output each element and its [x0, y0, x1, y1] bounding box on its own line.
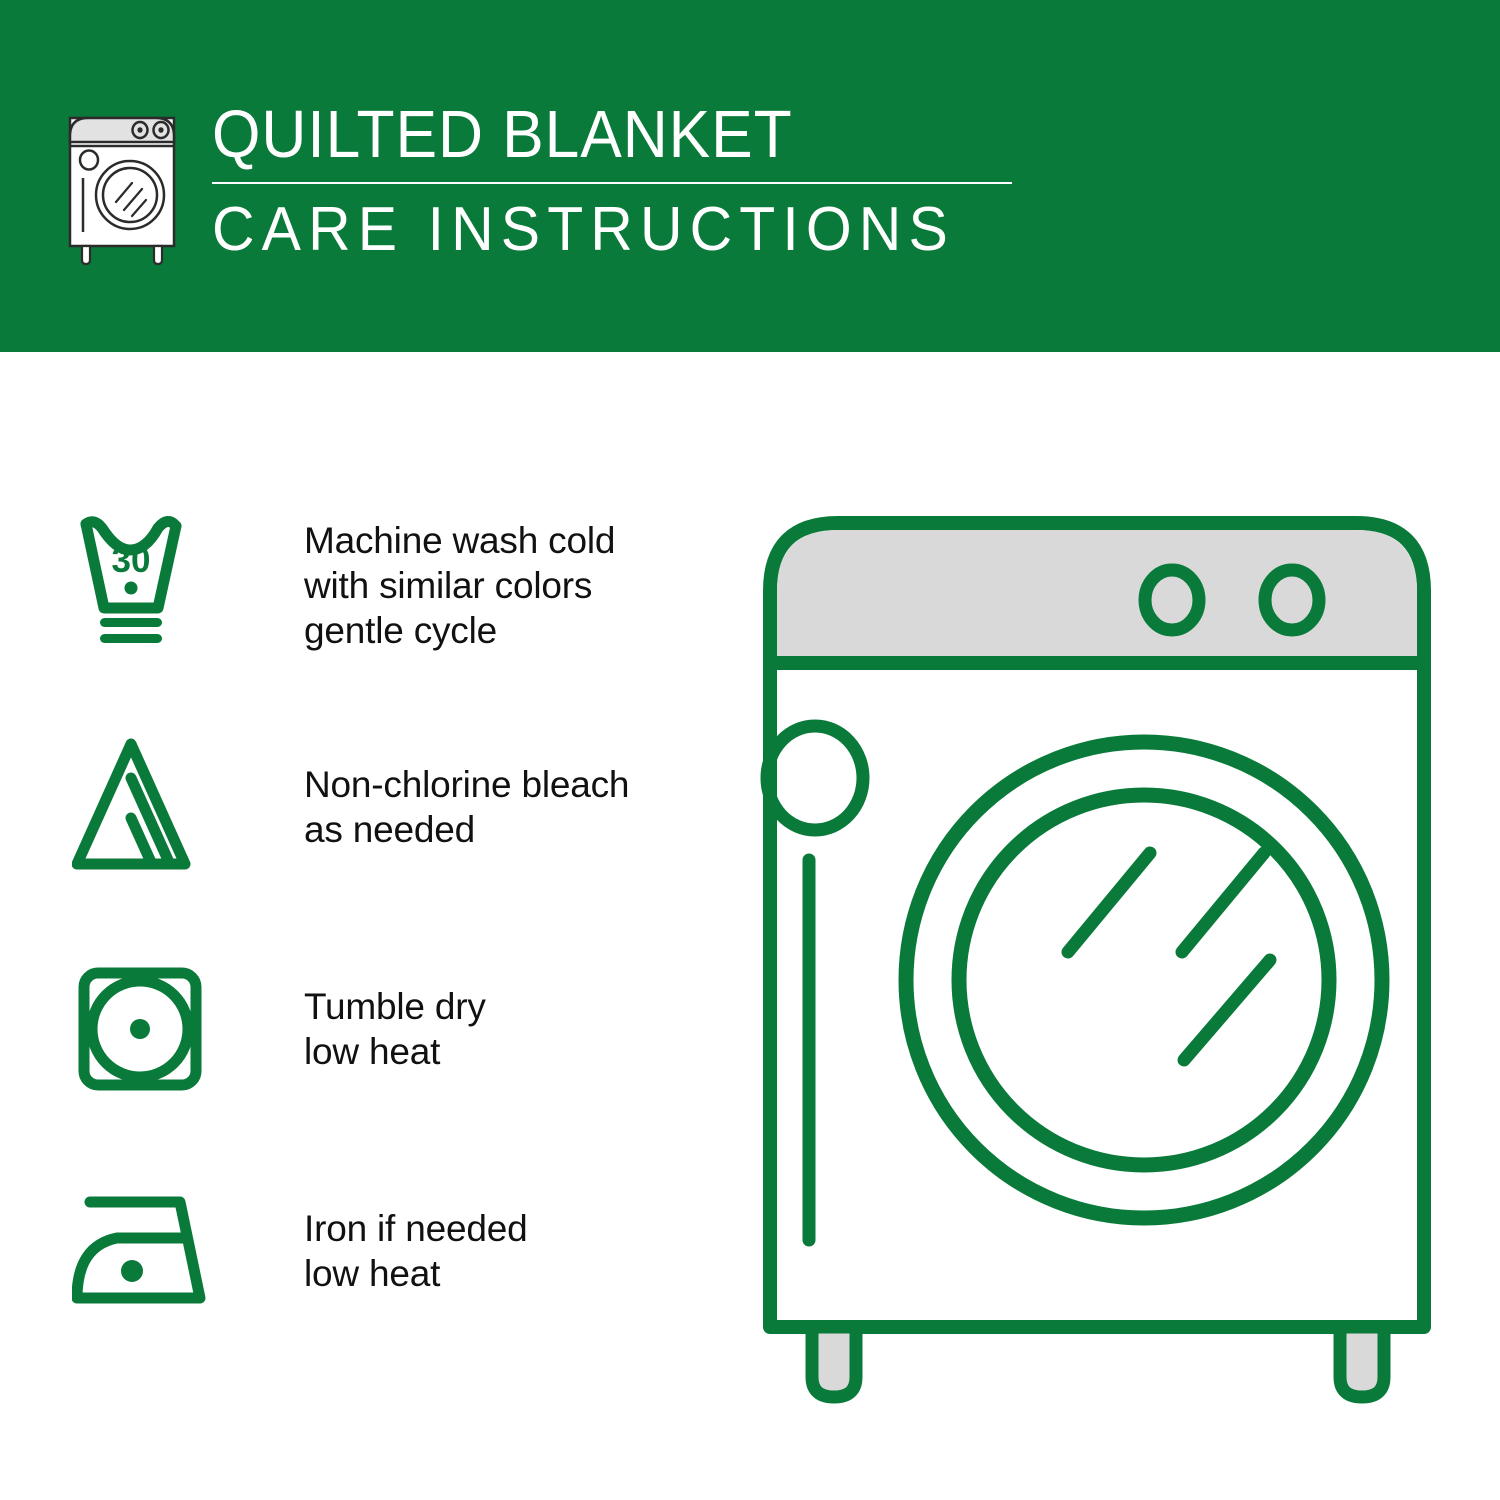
care-line: Machine wash cold [304, 518, 615, 563]
header-content: QUILTED BLANKET CARE INSTRUCTIONS [60, 98, 1012, 267]
care-line: Tumble dry [304, 984, 486, 1029]
care-line: low heat [304, 1029, 486, 1074]
care-line: low heat [304, 1251, 527, 1296]
care-text-tumble-dry: Tumble dry low heat [304, 984, 486, 1074]
care-line: with similar colors [304, 563, 615, 608]
care-line: Iron if needed [304, 1206, 527, 1251]
care-line: gentle cycle [304, 608, 615, 653]
wash-basin-30-gentle-icon: 30 [72, 510, 242, 660]
non-chlorine-bleach-triangle-icon [72, 732, 242, 882]
care-row-wash: 30 Machine wash cold with similar colors… [72, 505, 712, 665]
care-text-iron: Iron if needed low heat [304, 1206, 527, 1296]
care-line: as needed [304, 807, 629, 852]
header-title-group: QUILTED BLANKET CARE INSTRUCTIONS [212, 98, 1012, 264]
care-instruction-list: 30 Machine wash cold with similar colors… [72, 505, 712, 1331]
tumble-dry-low-icon [72, 954, 242, 1104]
care-row-iron: Iron if needed low heat [72, 1171, 712, 1331]
title-divider [212, 182, 1012, 184]
care-row-tumble-dry: Tumble dry low heat [72, 949, 712, 1109]
header-banner: QUILTED BLANKET CARE INSTRUCTIONS [0, 0, 1500, 352]
page-subtitle: CARE INSTRUCTIONS [212, 196, 972, 264]
page-title: QUILTED BLANKET [212, 98, 956, 172]
care-text-wash: Machine wash cold with similar colors ge… [304, 518, 615, 653]
care-row-bleach: Non-chlorine bleach as needed [72, 727, 712, 887]
care-text-bleach: Non-chlorine bleach as needed [304, 762, 629, 852]
svg-text:30: 30 [112, 541, 151, 580]
washing-machine-illustration [752, 505, 1442, 1415]
iron-low-heat-icon [72, 1176, 242, 1326]
care-line: Non-chlorine bleach [304, 762, 629, 807]
leg-left [812, 1327, 856, 1397]
leg-right [1340, 1327, 1384, 1397]
washing-machine-icon [60, 102, 190, 267]
